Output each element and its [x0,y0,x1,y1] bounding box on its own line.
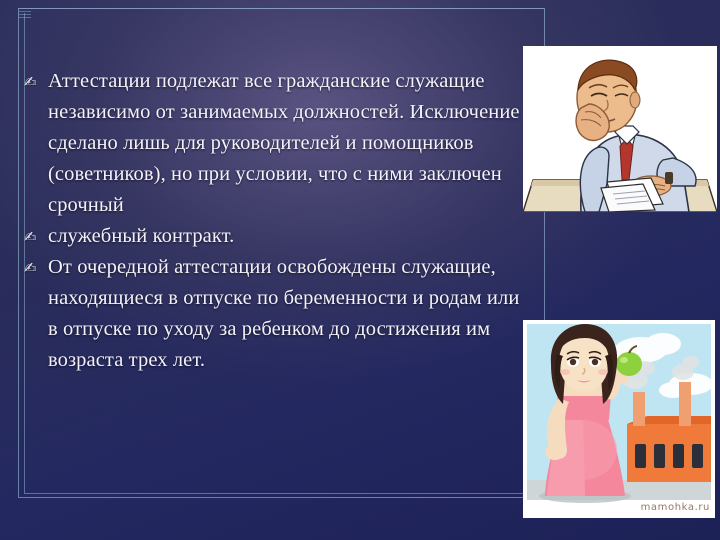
quill-bullet-icon: ✍ [24,67,48,98]
list-item: ✍ служебный контракт. [24,221,529,252]
list-item: ✍ Аттестации подлежат все гражданские сл… [24,66,529,221]
quill-bullet-icon: ✍ [24,222,48,253]
office-worker-clipart [523,46,717,212]
list-item: ✍ От очередной аттестации освобождены сл… [24,252,529,376]
frame-corner-ticks [19,9,33,23]
bullet-list: ✍ Аттестации подлежат все гражданские сл… [24,66,529,376]
quill-bullet-icon: ✍ [24,253,48,284]
list-item-text: Аттестации подлежат все гражданские служ… [48,66,529,221]
slide-canvas: ✍ Аттестации подлежат все гражданские сл… [0,0,720,540]
pregnant-woman-clipart: mamohka.ru [523,320,715,518]
image-watermark: mamohka.ru [641,502,710,513]
list-item-text: служебный контракт. [48,221,529,252]
list-item-text: От очередной аттестации освобождены служ… [48,252,529,376]
